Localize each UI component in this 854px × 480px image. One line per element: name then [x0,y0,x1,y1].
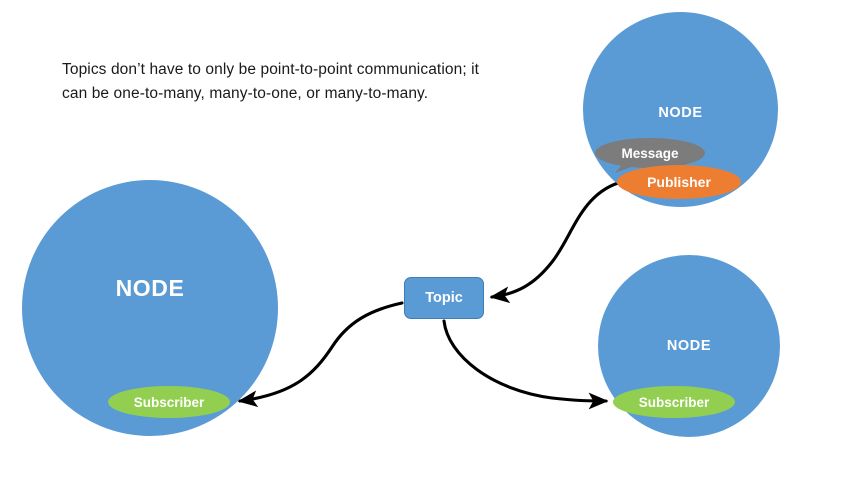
publisher-pill[interactable]: Publisher [617,165,741,199]
arrow-topic-to-subscriber-right [444,321,606,401]
slide-canvas: Topics don’t have to only be point-to-po… [0,0,854,480]
caption-text: Topics don’t have to only be point-to-po… [62,58,482,106]
subscriber-pill-right-label: Subscriber [639,395,710,410]
subscriber-pill-left-label: Subscriber [134,395,205,410]
message-bubble-label: Message [621,146,678,161]
topic-box[interactable]: Topic [404,277,484,319]
subscriber-pill-left[interactable]: Subscriber [108,386,230,418]
subscriber-pill-right[interactable]: Subscriber [613,386,735,418]
publisher-pill-label: Publisher [647,174,711,190]
node-subscriber-right-label: NODE [598,338,780,354]
arrow-publisher-to-topic [492,183,618,297]
node-left-label: NODE [22,275,278,302]
topic-box-label: Topic [425,290,463,306]
message-bubble[interactable]: Message [595,138,705,168]
node-publisher-label: NODE [583,105,778,121]
